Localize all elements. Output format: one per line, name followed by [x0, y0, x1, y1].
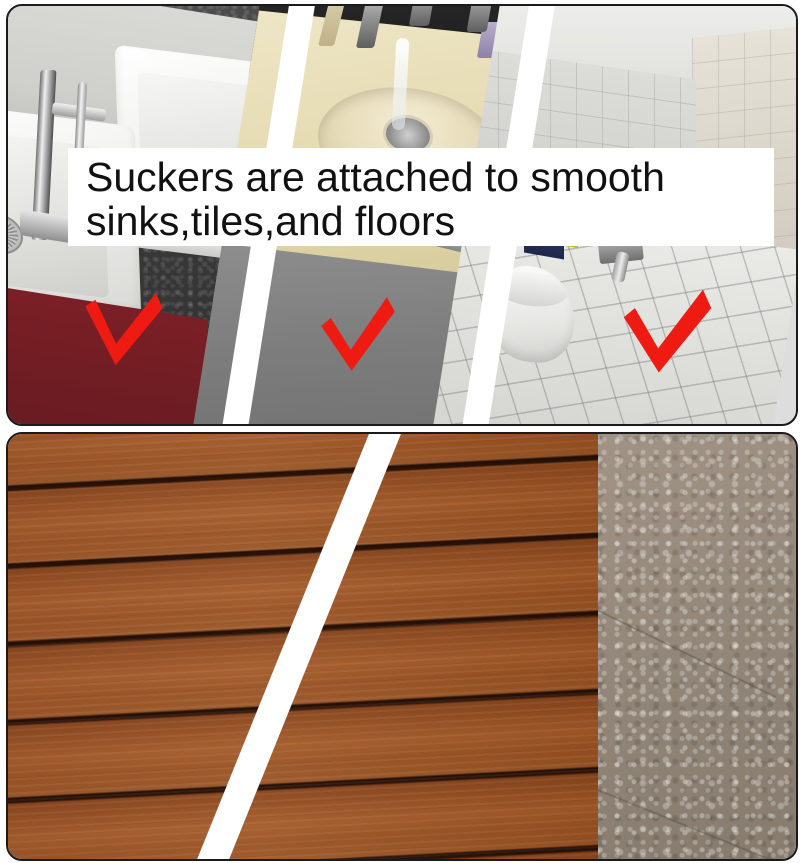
banner-top-line-2: sinks,tiles,and floors — [86, 199, 774, 243]
product-usage-infographic: Suckers are attached to smooth sinks,til… — [0, 0, 800, 863]
bottom-panel-scene-collage: X X — [8, 434, 796, 859]
panel-smooth-surfaces: Suckers are attached to smooth sinks,til… — [6, 4, 798, 426]
banner-top-line-1: Suckers are attached to smooth — [86, 155, 774, 199]
check-mark-bathroom-sink — [318, 294, 398, 374]
check-mark-tiled-floor — [622, 286, 714, 378]
banner-smooth-surfaces: Suckers are attached to smooth sinks,til… — [68, 148, 774, 246]
panel-rough-surfaces: X X DoNot use it on the rough surface or… — [6, 432, 798, 861]
check-mark-kitchen-sink — [82, 288, 166, 372]
